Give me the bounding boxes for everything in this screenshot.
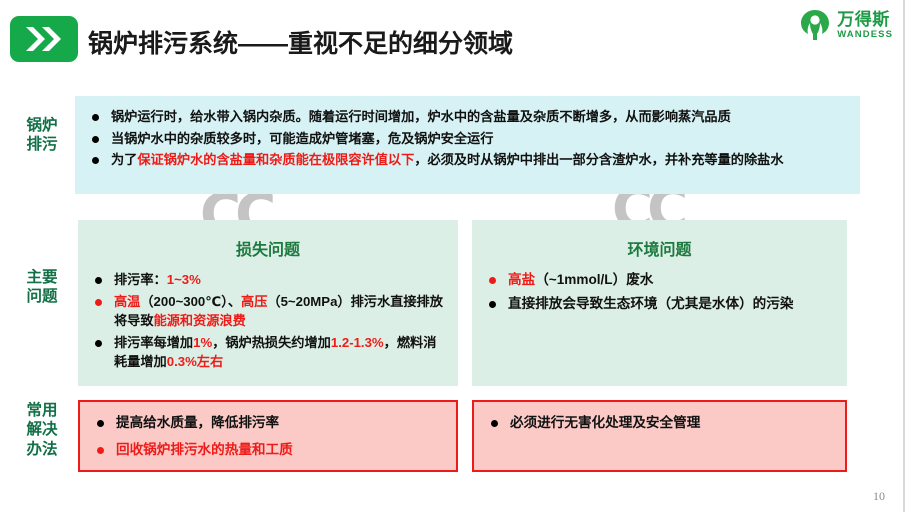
brand-name-en: WANDESS: [837, 30, 893, 40]
bullet-text-run: 锅炉运行时，给水带入锅内杂质。随着运行时间增加，炉水中的含盐量及杂质不断增多，从…: [111, 109, 731, 124]
brand-name-cn: 万得斯: [837, 11, 893, 28]
bullet-list: 高盐（~1mmol/L）废水直接排放会导致生态环境（尤其是水体）的污染: [472, 270, 847, 314]
panel-environment-problem: 环境问题 高盐（~1mmol/L）废水直接排放会导致生态环境（尤其是水体）的污染: [472, 220, 847, 386]
panel-methods-right: 必须进行无害化处理及安全管理: [472, 400, 847, 472]
bullet-text-run: 能源和资源浪费: [154, 313, 246, 328]
bullet-text-run: 为了: [111, 152, 137, 167]
page-number: 10: [873, 489, 885, 504]
bullet-text-run: 1.2-1.3%: [331, 335, 384, 350]
bullet-text-run: 排污率每增加: [114, 335, 193, 350]
bullet-item: 直接排放会导致生态环境（尤其是水体）的污染: [486, 294, 835, 314]
bullet-item: 提高给水质量，降低排污率: [94, 413, 444, 433]
panel-boiler-blowdown: 锅炉运行时，给水带入锅内杂质。随着运行时间增加，炉水中的含盐量及杂质不断增多，从…: [75, 96, 860, 194]
bullet-text-run: 保证锅炉水的含盐量和杂质能在极限容许值以下: [137, 152, 414, 167]
bullet-text-run: 1~3%: [167, 272, 201, 287]
bullet-text-run: 排污率：: [114, 272, 167, 287]
slide-canvas: 锅炉排污系统——重视不足的细分领域 万得斯 WANDESS CC CC 锅炉 排…: [0, 0, 905, 512]
bullet-text-run: 直接排放会导致生态环境（尤其是水体）的污染: [508, 296, 793, 311]
row-label-boiler: 锅炉 排污: [14, 116, 70, 155]
bullet-text-run: 0.3%左右: [167, 354, 223, 369]
bullet-item: 为了保证锅炉水的含盐量和杂质能在极限容许值以下，必须及时从锅炉中排出一部分含渣炉…: [89, 150, 846, 170]
bullet-item: 排污率：1~3%: [92, 270, 446, 290]
slide-header: 锅炉排污系统——重视不足的细分领域 万得斯 WANDESS: [0, 0, 905, 80]
bullet-item: 排污率每增加1%，锅炉热损失约增加1.2-1.3%，燃料消耗量增加0.3%左右: [92, 333, 446, 372]
panel-methods-left: 提高给水质量，降低排污率回收锅炉排污水的热量和工质: [78, 400, 458, 472]
bullet-text-run: 当锅炉水中的杂质较多时，可能造成炉管堵塞，危及锅炉安全运行: [111, 131, 493, 146]
panel-heading-loss: 损失问题: [78, 236, 458, 260]
bullet-text-run: 高压: [241, 294, 267, 309]
bullet-text-run: ，必须及时从锅炉中排出一部分含渣炉水，并补充等量的除盐水: [414, 152, 783, 167]
bullet-list: 提高给水质量，降低排污率回收锅炉排污水的热量和工质: [80, 402, 456, 460]
row-label-methods: 常用 解决 办法: [14, 401, 70, 459]
bullet-list: 必须进行无害化处理及安全管理: [474, 402, 845, 433]
page-title: 锅炉排污系统——重视不足的细分领域: [88, 24, 513, 60]
bullet-text-run: 高温: [114, 294, 140, 309]
panel-loss-problem: 损失问题 排污率：1~3%高温（200~300℃）、高压（5~20MPa）排污水…: [78, 220, 458, 386]
double-chevron-right-icon: [10, 16, 78, 62]
bullet-text-run: 提高给水质量，降低排污率: [116, 415, 279, 430]
bullet-item: 锅炉运行时，给水带入锅内杂质。随着运行时间增加，炉水中的含盐量及杂质不断增多，从…: [89, 107, 846, 127]
bullet-item: 回收锅炉排污水的热量和工质: [94, 440, 444, 460]
bullet-text-run: 必须进行无害化处理及安全管理: [510, 415, 700, 430]
bullet-text-run: ，锅炉热损失约增加: [212, 335, 331, 350]
row-label-problems: 主要 问题: [14, 268, 70, 307]
bullet-text-run: （~1mmol/L）废水: [535, 272, 653, 287]
bullet-list: 锅炉运行时，给水带入锅内杂质。随着运行时间增加，炉水中的含盐量及杂质不断增多，从…: [75, 96, 860, 170]
bullet-text-run: 回收锅炉排污水的热量和工质: [116, 442, 293, 457]
brand-logo: 万得斯 WANDESS: [798, 8, 893, 42]
bullet-item: 必须进行无害化处理及安全管理: [488, 413, 833, 433]
bullet-item: 高温（200~300℃）、高压（5~20MPa）排污水直接排放将导致能源和资源浪…: [92, 292, 446, 331]
bullet-text-run: （200~300℃）、: [140, 294, 241, 309]
bullet-text-run: 高盐: [508, 272, 535, 287]
wandess-leaf-logo-icon: [798, 8, 832, 42]
bullet-item: 高盐（~1mmol/L）废水: [486, 270, 835, 290]
panel-heading-environment: 环境问题: [472, 236, 847, 260]
bullet-item: 当锅炉水中的杂质较多时，可能造成炉管堵塞，危及锅炉安全运行: [89, 129, 846, 149]
bullet-text-run: 1%: [193, 335, 212, 350]
bullet-list: 排污率：1~3%高温（200~300℃）、高压（5~20MPa）排污水直接排放将…: [78, 270, 458, 372]
